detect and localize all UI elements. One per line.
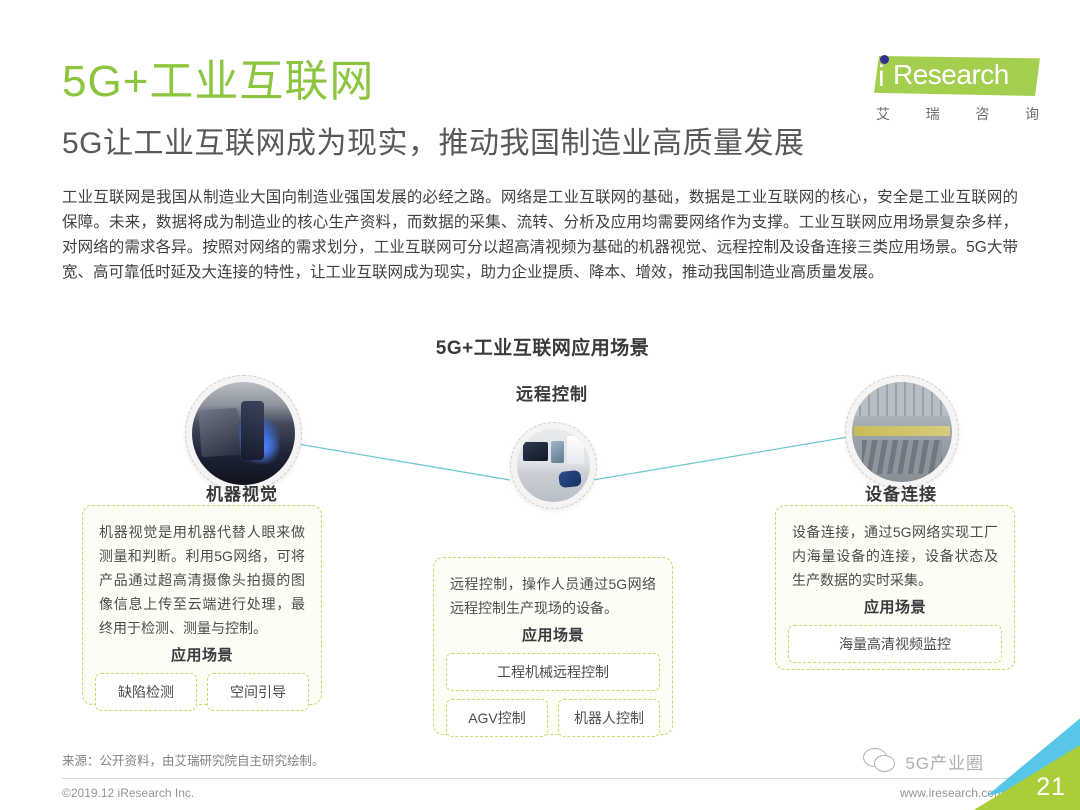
tag-agv-control[interactable]: AGV控制 xyxy=(446,699,548,737)
scenario-diagram: 5G+工业互联网应用场景 机器视觉 远程控制 设备连接 xyxy=(55,325,1030,745)
copyright-text: ©2019.12 iResearch Inc. xyxy=(62,786,194,800)
node-caption-machine-vision: 机器视觉 xyxy=(162,480,322,505)
tag-engineering-machinery-remote-control[interactable]: 工程机械远程控制 xyxy=(446,653,660,691)
card-scenario-label-device-connection: 应用场景 xyxy=(776,596,1014,617)
page-title-prefix: 5G+ xyxy=(62,57,149,106)
logo-cn-char-2: 瑞 xyxy=(926,104,941,124)
card-machine-vision: 机器视觉是用机器代替人眼来做测量和判断。利用5G网络，可将产品通过超高清摄像头拍… xyxy=(82,505,322,705)
logo-letter-i: i xyxy=(878,62,885,92)
node-circle-remote-control xyxy=(510,422,597,509)
slide-page: 5G+工业互联网 5G让工业互联网成为现实，推动我国制造业高质量发展 i Res… xyxy=(0,0,1080,810)
tag-robot-control[interactable]: 机器人控制 xyxy=(558,699,660,737)
node-caption-remote-control: 远程控制 xyxy=(472,380,632,405)
logo-wordmark: Research xyxy=(893,61,1009,89)
machine-vision-photo xyxy=(192,382,295,485)
tag-row-remote-control-wide: 工程机械远程控制 xyxy=(434,653,672,699)
intro-paragraph: 工业互联网是我国从制造业大国向制造业强国发展的必经之路。网络是工业互联网的基础，… xyxy=(62,185,1018,285)
wechat-watermark: 5G产业圈 xyxy=(863,748,984,774)
logo-cn-char-4: 询 xyxy=(1025,104,1040,124)
tag-row-machine-vision: 缺陷检测 空间引导 xyxy=(83,673,321,723)
page-title: 5G+工业互联网 xyxy=(62,58,374,106)
node-circle-machine-vision xyxy=(185,375,302,492)
connector-right xyxy=(593,435,860,480)
footer-divider xyxy=(62,778,1018,779)
remote-control-photo xyxy=(517,429,590,502)
card-remote-control: 远程控制，操作人员通过5G网络远程控制生产现场的设备。 应用场景 工程机械远程控… xyxy=(433,557,673,735)
node-caption-device-connection: 设备连接 xyxy=(821,480,981,505)
page-number: 21 xyxy=(1036,773,1066,802)
logo-cn-char-1: 艾 xyxy=(876,104,891,124)
logo-chinese-name: 艾 瑞 咨 询 xyxy=(876,104,1040,124)
tag-row-remote-control: AGV控制 机器人控制 xyxy=(434,699,672,749)
iresearch-logo: i Research 艾 瑞 咨 询 xyxy=(850,52,1040,130)
tag-defect-detection[interactable]: 缺陷检测 xyxy=(95,673,197,711)
page-subtitle: 5G让工业互联网成为现实，推动我国制造业高质量发展 xyxy=(62,126,805,162)
tag-row-device-connection: 海量高清视频监控 xyxy=(776,625,1014,675)
factory-floor-photo xyxy=(852,382,952,482)
logo-mark: i Research xyxy=(850,52,1040,100)
source-note: 来源：公开资料，由艾瑞研究院自主研究绘制。 xyxy=(62,750,325,769)
card-scenario-label-machine-vision: 应用场景 xyxy=(83,644,321,665)
card-description-remote-control: 远程控制，操作人员通过5G网络远程控制生产现场的设备。 xyxy=(434,558,672,622)
page-title-main: 工业互联网 xyxy=(149,57,374,106)
node-circle-device-connection xyxy=(845,375,959,489)
card-device-connection: 设备连接，通过5G网络实现工厂内海量设备的连接，设备状态及生产数据的实时采集。 … xyxy=(775,505,1015,670)
tag-massive-hd-video-monitoring[interactable]: 海量高清视频监控 xyxy=(788,625,1002,663)
corner-decoration: 21 xyxy=(970,715,1080,810)
card-scenario-label-remote-control: 应用场景 xyxy=(434,624,672,645)
wechat-icon xyxy=(863,748,897,774)
logo-cn-char-3: 咨 xyxy=(975,104,990,124)
card-description-machine-vision: 机器视觉是用机器代替人眼来做测量和判断。利用5G网络，可将产品通过超高清摄像头拍… xyxy=(83,506,321,642)
tag-spatial-guidance[interactable]: 空间引导 xyxy=(207,673,309,711)
card-description-device-connection: 设备连接，通过5G网络实现工厂内海量设备的连接，设备状态及生产数据的实时采集。 xyxy=(776,506,1014,594)
